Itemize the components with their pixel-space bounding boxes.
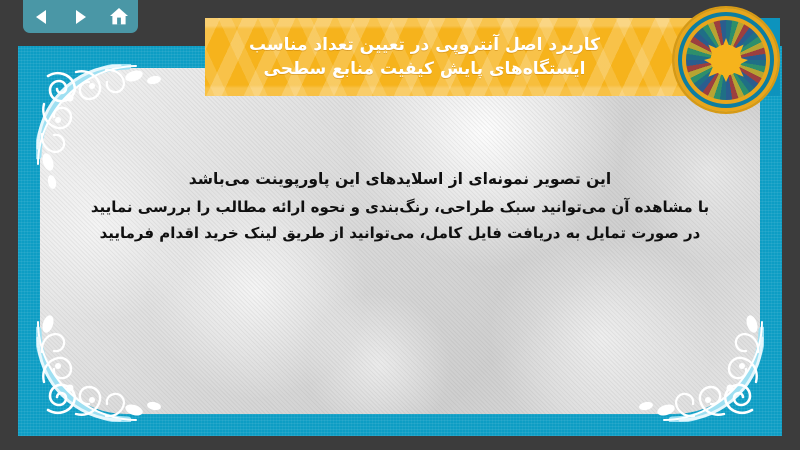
body-text-block: این تصویر نمونه‌ای از اسلایدهای این پاور… [68,164,732,249]
slide-title: کاربرد اصل آنتروپی در تعیین تعداد مناسب … [235,33,678,81]
slide-frame: این تصویر نمونه‌ای از اسلایدهای این پاور… [0,0,800,450]
body-line-1: این تصویر نمونه‌ای از اسلایدهای این پاور… [68,168,732,192]
body-line-2: با مشاهده آن می‌توانید سبک طراحی، رنگ‌بن… [68,196,732,219]
next-slide-button[interactable] [66,4,94,30]
right-triangle-icon [71,8,89,26]
slide-panel: این تصویر نمونه‌ای از اسلایدهای این پاور… [18,46,782,436]
content-area: این تصویر نمونه‌ای از اسلایدهای این پاور… [40,68,760,414]
title-line-1: کاربرد اصل آنتروپی در تعیین تعداد مناسب [249,33,600,57]
persian-medallion-icon [674,8,778,112]
home-icon [109,7,129,26]
navigation-bar [23,0,138,33]
body-line-3: در صورت تمایل به دریافت فایل کامل، می‌تو… [68,222,732,245]
title-line-2: ایستگاه‌های پایش کیفیت منابع سطحی [249,57,600,81]
home-button[interactable] [105,4,133,30]
left-triangle-icon [33,8,51,26]
ribbon-body: کاربرد اصل آنتروپی در تعیین تعداد مناسب … [205,18,708,96]
medallion-star-shape [704,38,748,82]
previous-slide-button[interactable] [28,4,56,30]
